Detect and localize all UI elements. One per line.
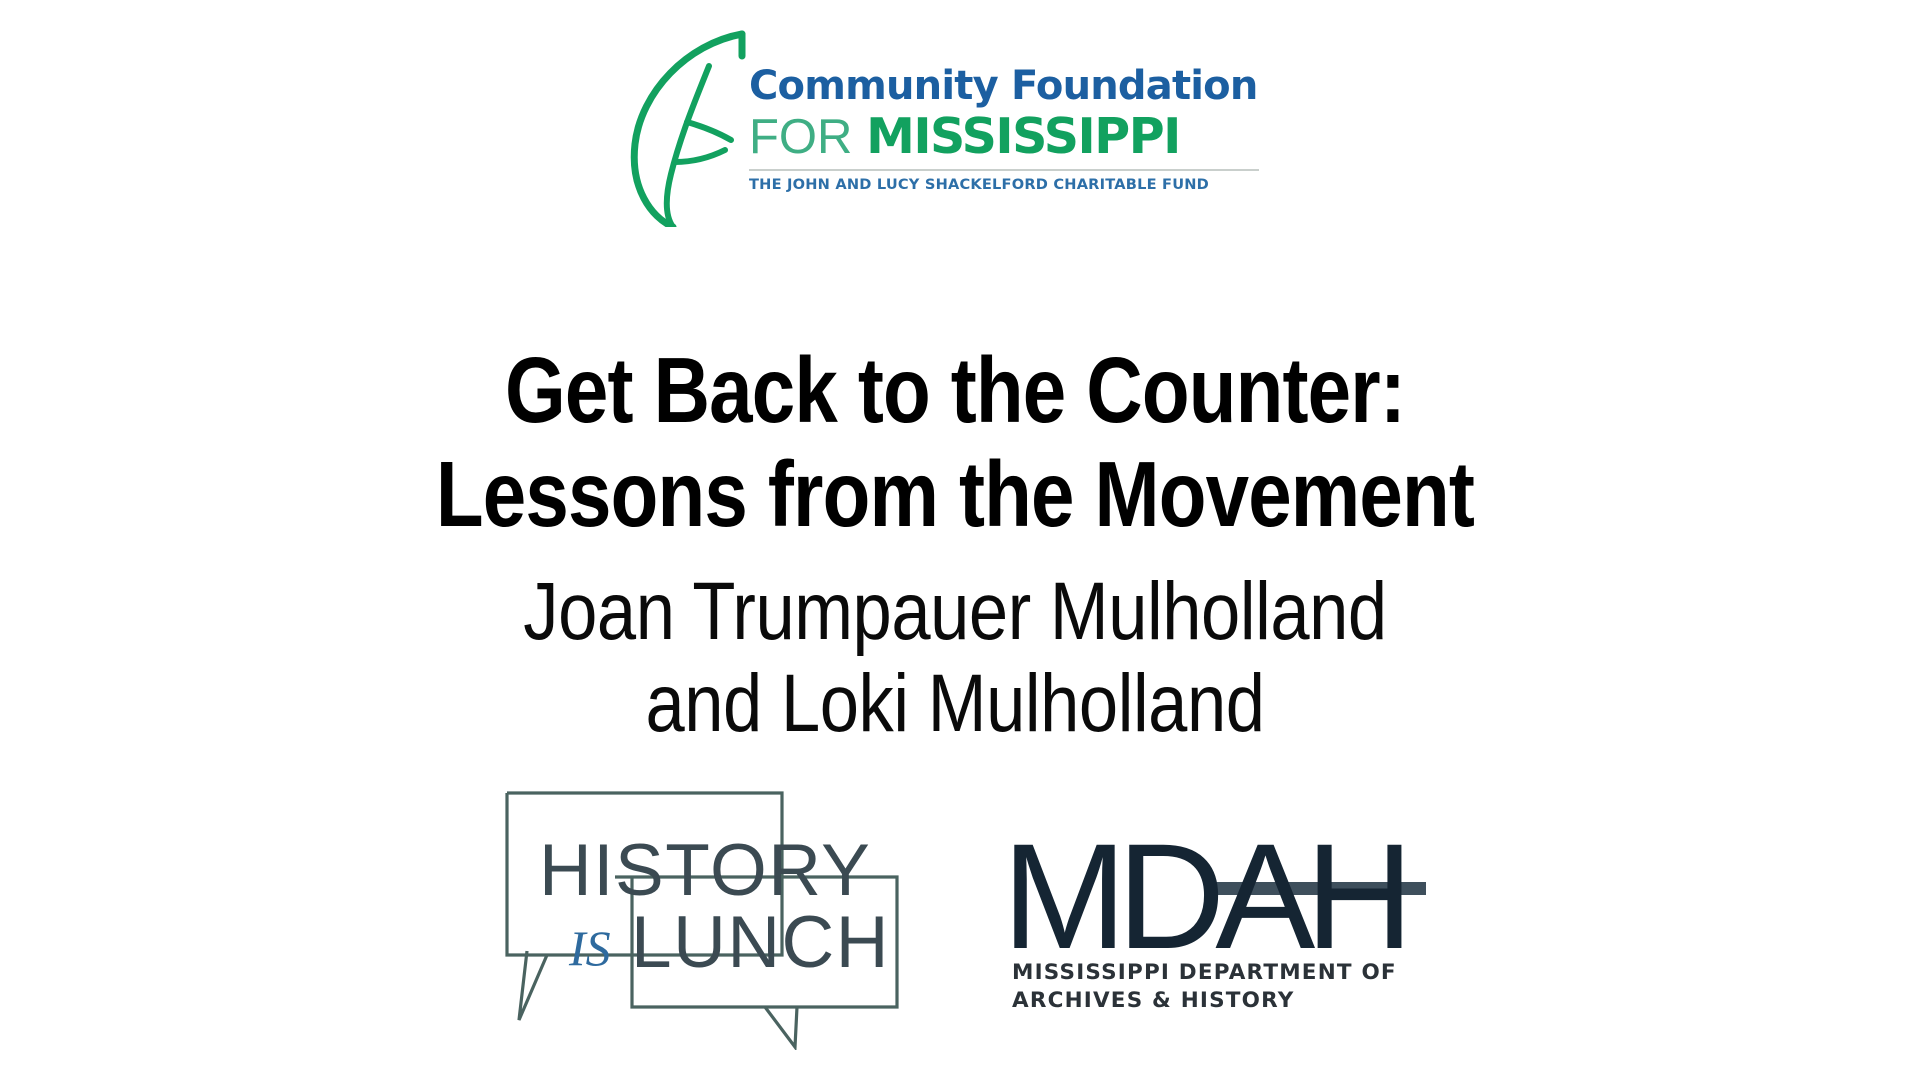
community-foundation-wordmark: Community Foundation FOR MISSISSIPPI THE… bbox=[749, 66, 1261, 193]
title-line-2: Lessons from the Movement bbox=[153, 442, 1757, 546]
cf-line-community-foundation: Community Foundation bbox=[749, 66, 1261, 106]
cf-divider-rule bbox=[749, 169, 1259, 171]
mdah-logo: MDAH MISSISSIPPI DEPARTMENT OF ARCHIVES … bbox=[1008, 824, 1448, 1014]
svg-text:LUNCH: LUNCH bbox=[631, 902, 890, 983]
svg-text:IS: IS bbox=[568, 920, 611, 976]
speaker-line-2: and Loki Mulholland bbox=[134, 658, 1777, 750]
svg-text:MISSISSIPPI DEPARTMENT OF: MISSISSIPPI DEPARTMENT OF bbox=[1012, 960, 1397, 985]
speaker-names: Joan Trumpauer Mulholland and Loki Mulho… bbox=[0, 566, 1910, 750]
history-is-lunch-logo: HISTORY LUNCH IS bbox=[497, 785, 917, 1050]
speaker-line-1: Joan Trumpauer Mulholland bbox=[134, 566, 1777, 658]
title-line-1: Get Back to the Counter: bbox=[153, 338, 1757, 442]
svg-text:HISTORY: HISTORY bbox=[539, 830, 871, 911]
svg-text:ARCHIVES & HISTORY: ARCHIVES & HISTORY bbox=[1012, 988, 1294, 1013]
cf-word-mississippi: MISSISSIPPI bbox=[866, 108, 1180, 165]
page-title: Get Back to the Counter: Lessons from th… bbox=[0, 338, 1910, 546]
svg-text:MDAH: MDAH bbox=[1008, 824, 1404, 980]
community-foundation-logo: Community Foundation FOR MISSISSIPPI THE… bbox=[621, 22, 1261, 227]
presentation-title-slide: Community Foundation FOR MISSISSIPPI THE… bbox=[0, 0, 1910, 1080]
cf-word-for: FOR bbox=[749, 110, 852, 164]
cf-line-for-mississippi: FOR MISSISSIPPI bbox=[749, 112, 1261, 162]
cf-tagline: THE JOHN AND LUCY SHACKELFORD CHARITABLE… bbox=[749, 176, 1261, 193]
